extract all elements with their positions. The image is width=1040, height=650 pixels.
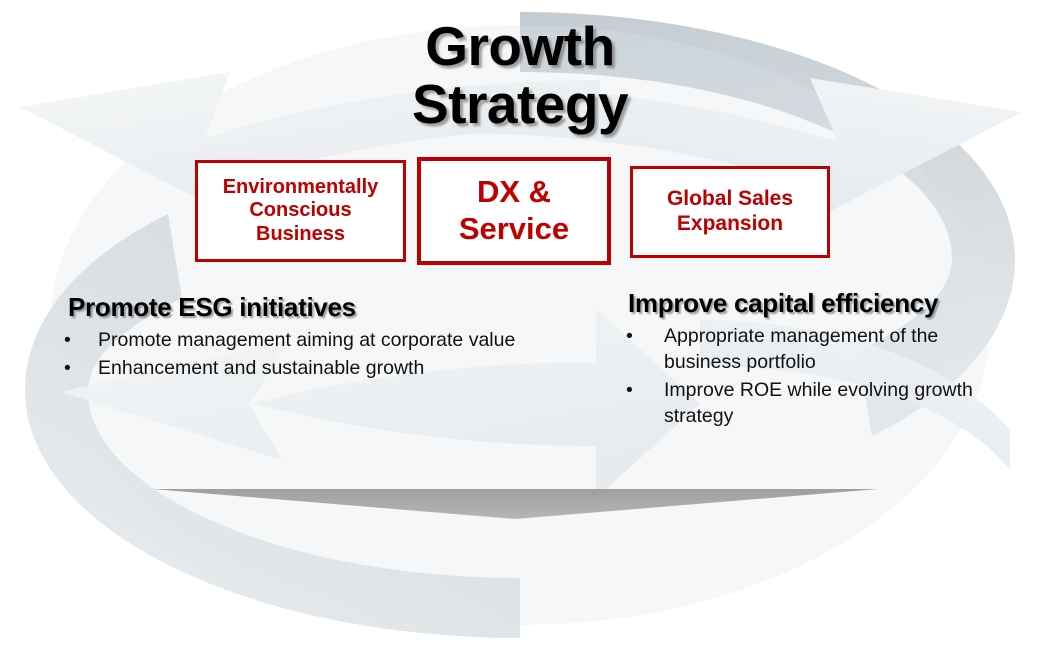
slide-canvas: Growth Strategy Environmentally Consciou…: [0, 0, 1040, 650]
column-esg-initiatives: Promote ESG initiatives • Promote manage…: [58, 292, 528, 383]
list-item-label: Promote management aiming at corporate v…: [98, 329, 515, 351]
bullet-dot-icon: •: [626, 377, 633, 403]
bullet-dot-icon: •: [64, 327, 71, 353]
list-item: • Appropriate management of the business…: [620, 323, 1020, 375]
bullet-list-esg: • Promote management aiming at corporate…: [58, 327, 528, 381]
column-heading-capital-efficiency: Improve capital efficiency: [620, 288, 1020, 319]
pillar-box-environmentally-conscious-business[interactable]: Environmentally Conscious Business: [195, 160, 406, 262]
bullet-dot-icon: •: [626, 323, 633, 349]
bullet-dot-icon: •: [64, 355, 71, 381]
bullet-list-capital-efficiency: • Appropriate management of the business…: [620, 323, 1020, 430]
list-item-label: Appropriate management of the business p…: [664, 325, 938, 373]
list-item: • Enhancement and sustainable growth: [58, 355, 528, 381]
list-item: • Promote management aiming at corporate…: [58, 327, 528, 353]
column-capital-efficiency: Improve capital efficiency • Appropriate…: [620, 288, 1020, 432]
list-item-label: Enhancement and sustainable growth: [98, 357, 424, 379]
list-item-label: Improve ROE while evolving growth strate…: [664, 379, 973, 427]
list-item: • Improve ROE while evolving growth stra…: [620, 377, 1020, 429]
column-heading-esg: Promote ESG initiatives: [58, 292, 528, 323]
pillar-box-global-sales-expansion[interactable]: Global Sales Expansion: [630, 166, 830, 258]
pillar-box-dx-and-service[interactable]: DX & Service: [417, 157, 611, 265]
